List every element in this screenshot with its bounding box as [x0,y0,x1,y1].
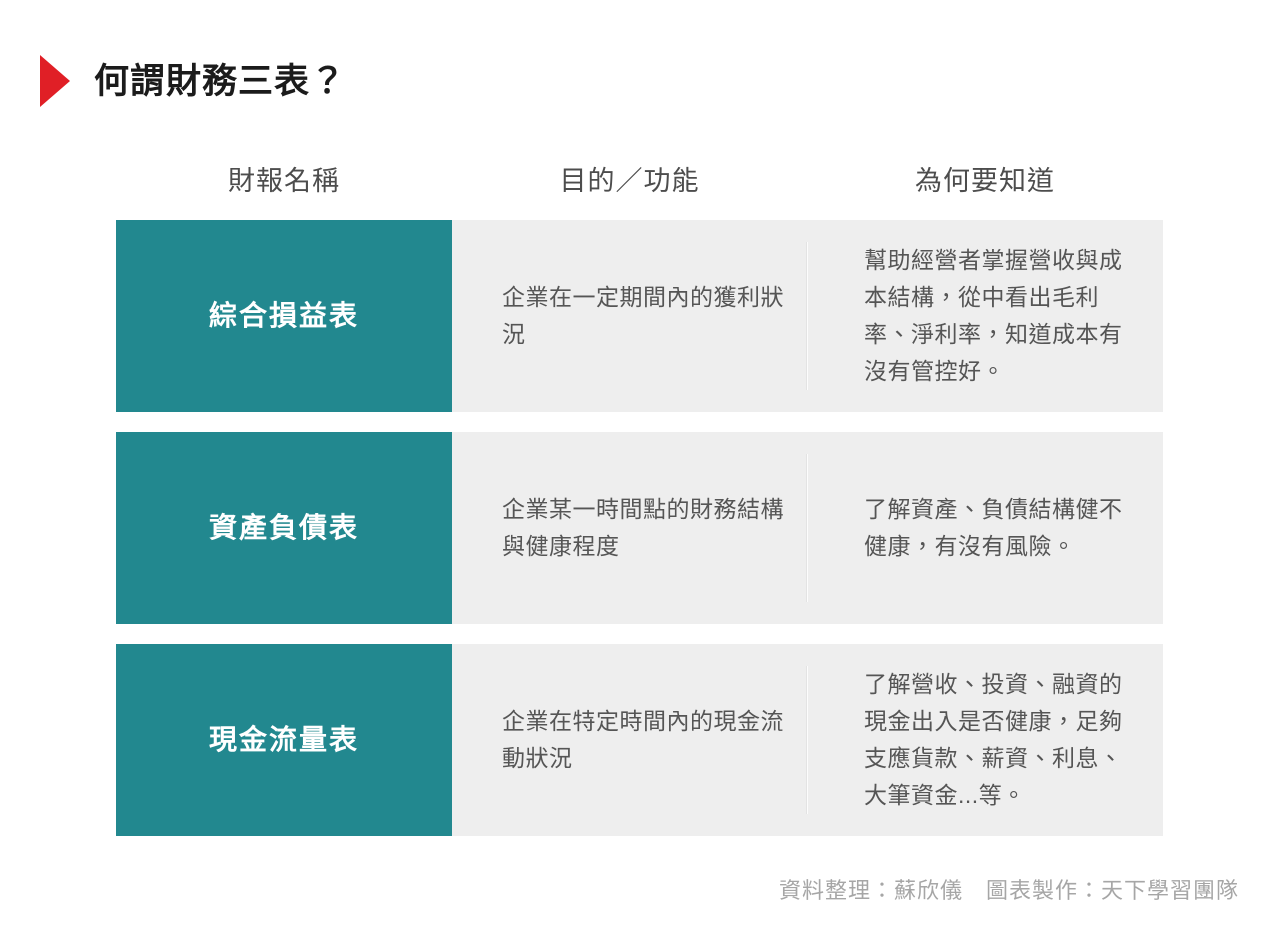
report-why-text: 幫助經營者掌握營收與成本結構，從中看出毛利率、淨利率，知道成本有沒有管控好。 [864,242,1139,391]
report-purpose-text: 企業某一時間點的財務結構與健康程度 [502,491,789,566]
red-triangle-bullet-icon [40,55,70,107]
column-header-name: 財報名稱 [116,160,452,202]
report-name-label: 綜合損益表 [209,298,359,334]
report-name-label: 資產負債表 [209,510,359,546]
report-purpose-cell: 企業在特定時間內的現金流動狀況 [452,644,807,836]
slide-canvas: 何謂財務三表？ 財報名稱 目的／功能 為何要知道 綜合損益表 企業在一定期間內的… [0,0,1279,940]
report-why-cell: 幫助經營者掌握營收與成本結構，從中看出毛利率、淨利率，知道成本有沒有管控好。 [808,220,1163,412]
report-name-cell: 現金流量表 [116,644,452,836]
report-why-cell: 了解營收、投資、融資的現金出入是否健康，足夠支應貨款、薪資、利息、大筆資金...… [808,644,1163,836]
report-why-cell: 了解資產、負債結構健不健康，有沒有風險。 [808,432,1163,624]
page-title: 何謂財務三表？ [40,53,346,109]
table-body: 綜合損益表 企業在一定期間內的獲利狀況 幫助經營者掌握營收與成本結構，從中看出毛… [116,220,1163,836]
page-title-text: 何謂財務三表？ [94,64,346,99]
report-name-cell: 資產負債表 [116,432,452,624]
column-header-purpose: 目的／功能 [452,160,807,202]
column-header-why: 為何要知道 [807,160,1163,202]
table-row: 綜合損益表 企業在一定期間內的獲利狀況 幫助經營者掌握營收與成本結構，從中看出毛… [116,220,1163,412]
report-purpose-cell: 企業在一定期間內的獲利狀況 [452,220,807,412]
table-column-headers: 財報名稱 目的／功能 為何要知道 [116,160,1163,202]
report-why-text: 了解營收、投資、融資的現金出入是否健康，足夠支應貨款、薪資、利息、大筆資金...… [864,666,1139,815]
report-purpose-cell: 企業某一時間點的財務結構與健康程度 [452,432,807,624]
report-name-cell: 綜合損益表 [116,220,452,412]
report-purpose-text: 企業在特定時間內的現金流動狀況 [502,703,789,778]
report-why-text: 了解資產、負債結構健不健康，有沒有風險。 [864,491,1139,566]
footer-credit: 資料整理：蘇欣儀 圖表製作：天下學習團隊 [779,873,1239,905]
table-row: 資產負債表 企業某一時間點的財務結構與健康程度 了解資產、負債結構健不健康，有沒… [116,432,1163,624]
report-purpose-text: 企業在一定期間內的獲利狀況 [502,279,789,354]
report-name-label: 現金流量表 [209,722,359,758]
table-row: 現金流量表 企業在特定時間內的現金流動狀況 了解營收、投資、融資的現金出入是否健… [116,644,1163,836]
